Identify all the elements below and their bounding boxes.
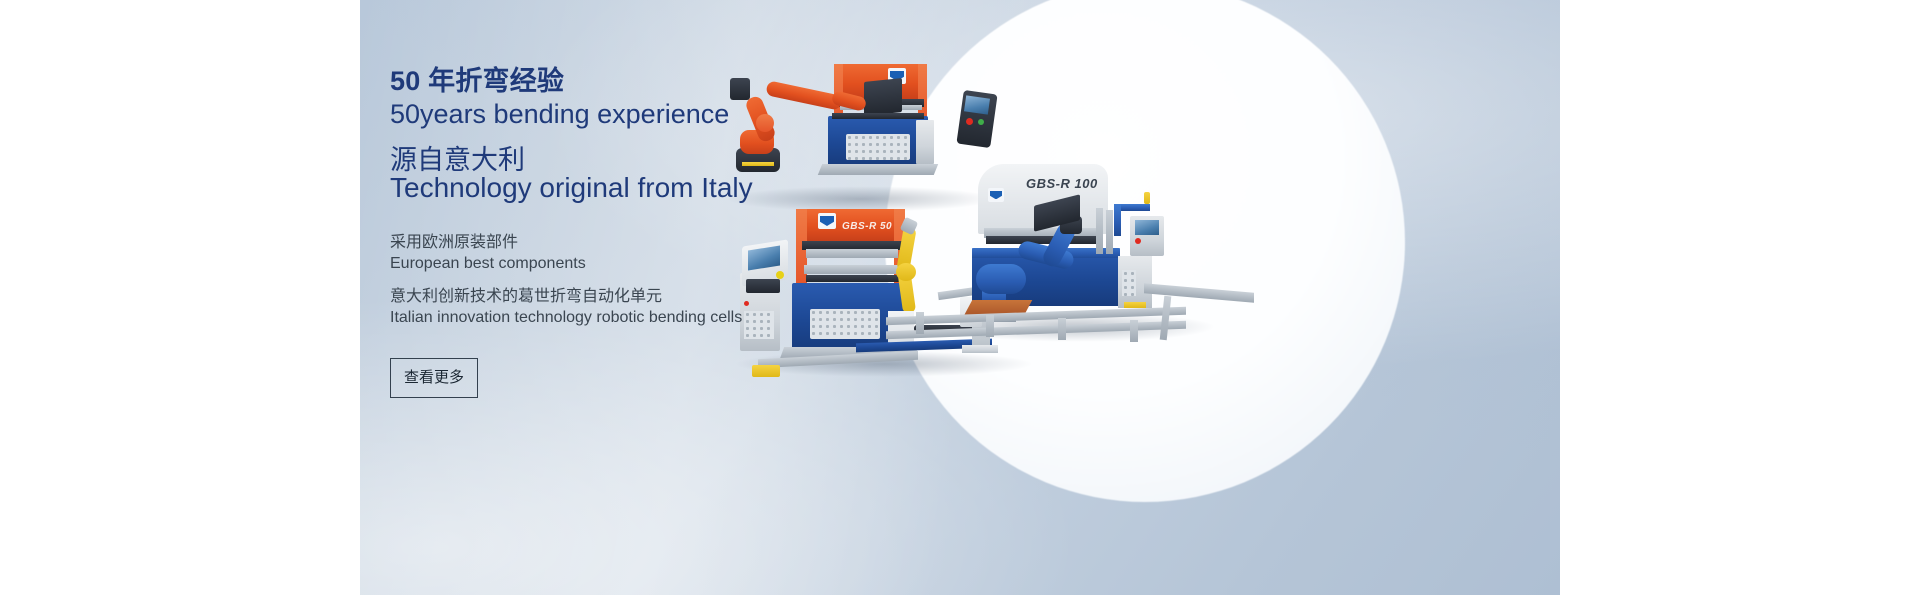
pendant-estop-button (1135, 238, 1141, 244)
pendant-screen (964, 95, 990, 114)
banner-stage: GBS-R 50 (0, 0, 1920, 595)
press-vent-grille (846, 134, 910, 160)
press-top-rail (832, 113, 924, 119)
rail-crossmember-c (1058, 318, 1066, 340)
cabinet-safety-marker (1124, 302, 1146, 308)
headline-line-4-en: Technology original from Italy (390, 172, 753, 204)
press-side-cabinet (916, 120, 934, 164)
lag-logo-icon (818, 213, 836, 229)
banner-copy: 50 年折弯经验 50years bending experience 源自意大… (390, 0, 810, 595)
subtext-line-3-cn: 意大利创新技术的葛世折弯自动化单元 (390, 282, 662, 306)
cabinet-vent (1122, 270, 1136, 296)
workpiece-panel (864, 78, 902, 116)
press-vent-grille (810, 309, 880, 339)
press-hydraulic-cylinder-left (1096, 208, 1103, 254)
machine-model-label-gbs-r-100: GBS-R 100 (1026, 176, 1098, 191)
press-backgauge (806, 275, 902, 282)
handling-station-base (962, 345, 998, 353)
machine-model-label-gbs-r-50: GBS-R 50 (842, 221, 892, 232)
safety-beacon (1144, 192, 1150, 204)
hero-banner: GBS-R 50 (360, 0, 1560, 595)
subtext-line-4-en: Italian innovation technology robotic be… (390, 309, 742, 327)
machine-robot-bending-cell-gbs-r-100: GBS-R 100 (926, 160, 1226, 345)
pendant-support-post (1114, 204, 1121, 236)
rail-crossmember-b (986, 315, 994, 337)
press-bed-dies (804, 265, 900, 274)
headline-line-1-cn: 50 年折弯经验 (390, 59, 564, 98)
subtext-line-1-cn: 采用欧洲原装部件 (390, 228, 518, 252)
outfeed-table-beam (1144, 283, 1254, 303)
press-hydraulic-cylinder-right (1106, 210, 1113, 254)
press-tooling-punches (806, 249, 898, 258)
press-tooling-dies (986, 236, 1098, 244)
rail-crossmember-d (1130, 320, 1138, 342)
pendant-screen (1135, 220, 1159, 235)
press-base-plinth (818, 164, 938, 175)
subtext-line-2-en: European best components (390, 255, 586, 273)
robot-shoulder (976, 264, 1026, 294)
rail-crossmember-a (916, 312, 924, 334)
headline-line-2-en: 50years bending experience (390, 99, 729, 130)
lag-logo-icon (988, 188, 1004, 202)
robot-elbow-joint (896, 263, 916, 281)
view-more-button[interactable]: 查看更多 (390, 358, 478, 398)
pendant-estop-button (966, 118, 973, 125)
pendant-indicator (978, 119, 984, 125)
